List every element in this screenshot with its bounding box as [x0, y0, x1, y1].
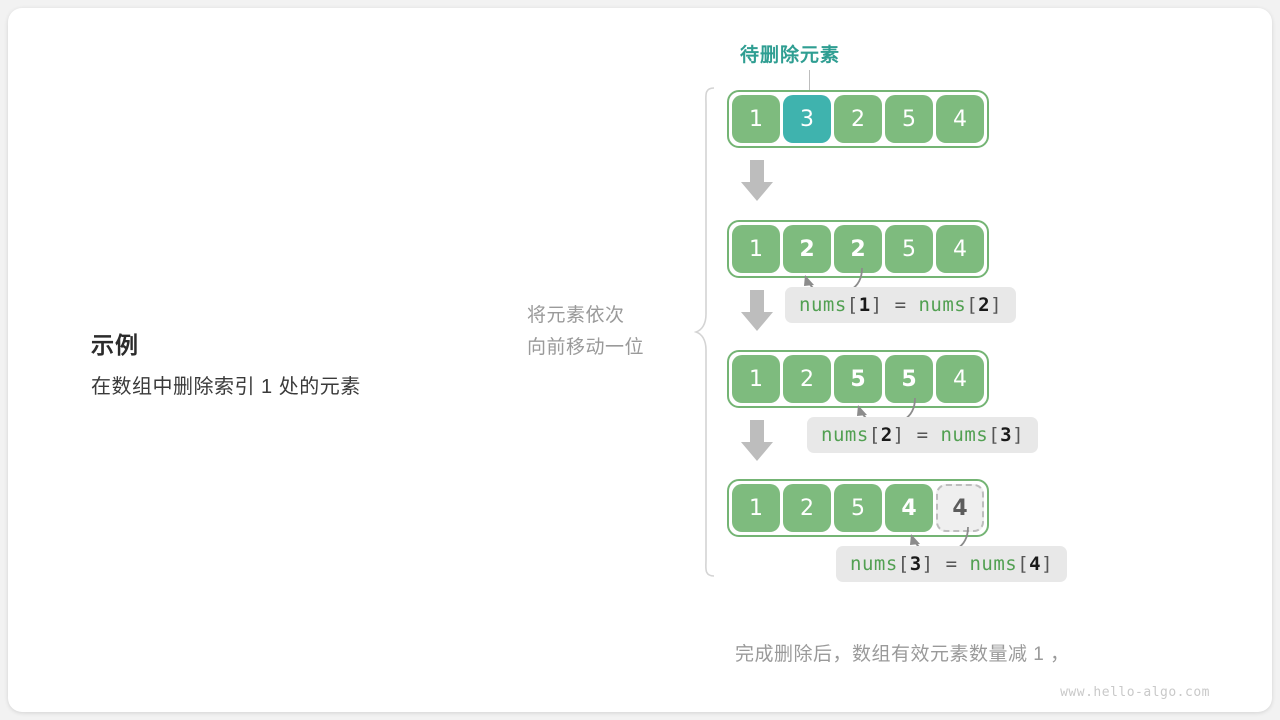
- array-cell: 5: [834, 484, 882, 532]
- code-bracket-close: ]: [893, 424, 905, 446]
- array-cell: 4: [885, 484, 933, 532]
- code-bracket-open: [: [847, 294, 859, 316]
- summary-caption-line-2: 末尾元素 4 已无意义，无需特意修改: [735, 707, 1070, 712]
- array-cell: 2: [783, 355, 831, 403]
- array-cell: 2: [783, 225, 831, 273]
- code-func-name: nums: [821, 424, 869, 446]
- code-bracket-open: [: [898, 553, 910, 575]
- diagram-stage: 示例 在数组中删除索引 1 处的元素 将元素依次 向前移动一位 待删除元素 13…: [8, 8, 1272, 712]
- code-assign-operator: =: [905, 424, 941, 446]
- code-assign-operator: =: [934, 553, 970, 575]
- code-index: 2: [978, 294, 990, 316]
- array-cell: 4: [936, 95, 984, 143]
- code-func-name: nums: [799, 294, 847, 316]
- code-label-assign-3: nums[3] = nums[4]: [836, 546, 1067, 582]
- code-index: 2: [881, 424, 893, 446]
- array-row-initial: 13254: [727, 90, 989, 148]
- code-bracket-close: ]: [871, 294, 883, 316]
- array-cell: 1: [732, 484, 780, 532]
- example-description: 在数组中删除索引 1 处的元素: [91, 370, 511, 399]
- code-bracket-close: ]: [1012, 424, 1024, 446]
- delete-target-label: 待删除元素: [740, 40, 840, 67]
- diagram-card: 示例 在数组中删除索引 1 处的元素 将元素依次 向前移动一位 待删除元素 13…: [8, 8, 1272, 712]
- array-cell: 1: [732, 355, 780, 403]
- code-label-assign-1: nums[1] = nums[2]: [785, 287, 1016, 323]
- grouping-brace-icon: [694, 86, 716, 578]
- page-title: 示例: [91, 326, 511, 360]
- shift-note-line-1: 将元素依次: [527, 300, 697, 332]
- code-label-assign-2: nums[2] = nums[3]: [807, 417, 1038, 453]
- watermark: www.hello-algo.com: [1060, 685, 1210, 700]
- code-func-name: nums: [918, 294, 966, 316]
- array-cell: 5: [885, 95, 933, 143]
- code-func-name: nums: [969, 553, 1017, 575]
- array-cell: 2: [834, 95, 882, 143]
- shift-note: 将元素依次 向前移动一位: [527, 300, 697, 364]
- summary-caption-line-1: 完成删除后，数组有效元素数量减 1 ，: [735, 637, 1070, 672]
- code-bracket-close: ]: [1041, 553, 1053, 575]
- array-cell: 1: [732, 225, 780, 273]
- code-func-name: nums: [850, 553, 898, 575]
- array-row-step-2: 12554: [727, 350, 989, 408]
- array-cell: 2: [834, 225, 882, 273]
- code-index: 4: [1029, 553, 1041, 575]
- example-block: 示例 在数组中删除索引 1 处的元素: [91, 326, 511, 399]
- code-index: 3: [910, 553, 922, 575]
- down-arrow-icon: [739, 290, 775, 332]
- code-bracket-open: [: [988, 424, 1000, 446]
- summary-caption: 完成删除后，数组有效元素数量减 1 ， 末尾元素 4 已无意义，无需特意修改: [735, 602, 1070, 712]
- array-cell: 2: [783, 484, 831, 532]
- array-cell: 1: [732, 95, 780, 143]
- array-row-step-3: 12544: [727, 479, 989, 537]
- code-func-name: nums: [940, 424, 988, 446]
- code-bracket-open: [: [1017, 553, 1029, 575]
- array-cell: 5: [885, 355, 933, 403]
- code-index: 1: [859, 294, 871, 316]
- code-bracket-close: ]: [990, 294, 1002, 316]
- array-cell: 4: [936, 484, 984, 532]
- array-cell: 4: [936, 225, 984, 273]
- code-bracket-open: [: [966, 294, 978, 316]
- code-bracket-open: [: [869, 424, 881, 446]
- shift-note-line-2: 向前移动一位: [527, 332, 697, 364]
- array-row-step-1: 12254: [727, 220, 989, 278]
- array-cell: 4: [936, 355, 984, 403]
- down-arrow-icon: [739, 420, 775, 462]
- array-cell: 5: [885, 225, 933, 273]
- array-cell: 3: [783, 95, 831, 143]
- code-index: 3: [1000, 424, 1012, 446]
- array-cell: 5: [834, 355, 882, 403]
- code-bracket-close: ]: [922, 553, 934, 575]
- code-assign-operator: =: [883, 294, 919, 316]
- down-arrow-icon: [739, 160, 775, 202]
